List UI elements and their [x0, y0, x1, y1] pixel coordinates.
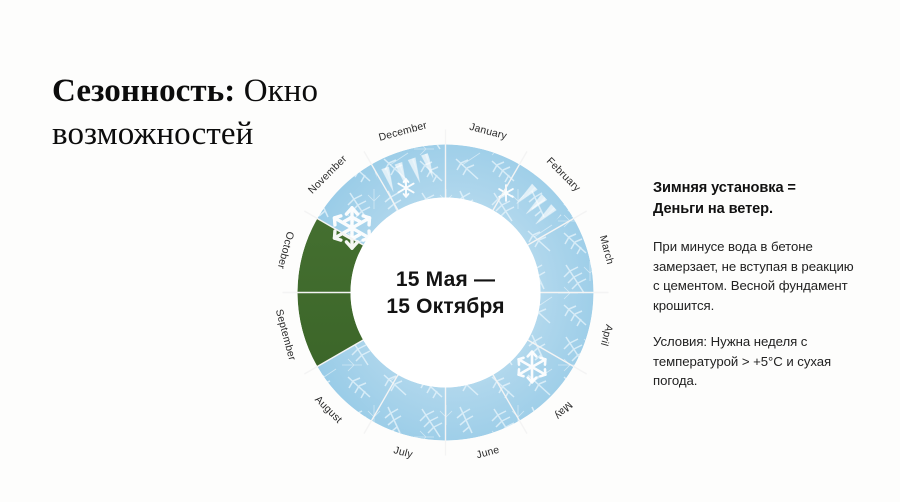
heading-line-1: Зимняя установка = — [653, 180, 796, 196]
info-paragraph-1: При минусе вода в бетоне замерзает, не в… — [653, 237, 858, 315]
title-line-1: Сезонность: Окно — [52, 70, 422, 113]
seasonality-donut-chart: JanuaryFebruaryMarchAprilMayJuneJulyAugu… — [268, 115, 623, 470]
info-paragraph-2: Условия: Нужна неделя с температурой > +… — [653, 332, 858, 391]
info-panel: Зимняя установка = Деньги на ветер. При … — [653, 178, 858, 391]
donut-hole — [351, 198, 541, 388]
title-strong: Сезонность: — [52, 73, 235, 109]
slide-canvas: Сезонность: Окно возможностей — [0, 0, 900, 502]
donut-svg — [268, 115, 623, 470]
heading-line-2: Деньги на ветер. — [653, 201, 773, 217]
title-normal: Окно — [235, 73, 318, 109]
info-panel-heading: Зимняя установка = Деньги на ветер. — [653, 178, 858, 220]
